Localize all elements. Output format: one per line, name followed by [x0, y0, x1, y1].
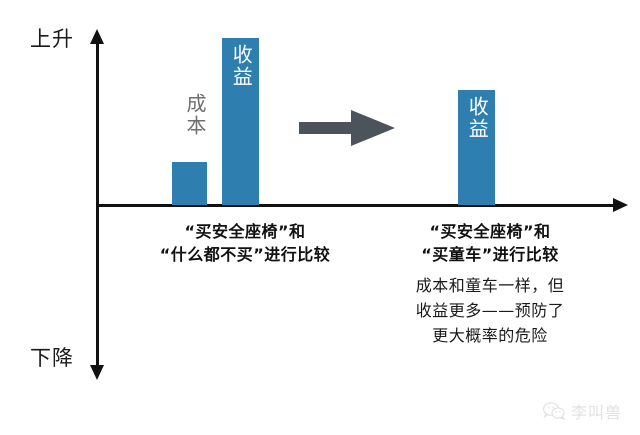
- caption-right-sub-line-1: 成本和童车一样，但: [385, 274, 595, 299]
- caption-right-sub-line-2: 收益更多——预防了: [385, 299, 595, 324]
- caption-right-sub-line-3: 更大概率的危险: [385, 324, 595, 349]
- bar-benefit-left-label: 收益: [229, 44, 253, 88]
- bar-cost-label: 成本: [173, 93, 206, 137]
- axis-label-down: 下降: [30, 348, 74, 369]
- caption-right-group: “买安全座椅”和 “买童车”进行比较 成本和童车一样，但 收益更多——预防了 更…: [385, 220, 595, 349]
- watermark: 李叫兽: [543, 399, 622, 423]
- bar-cost: [172, 162, 207, 205]
- bar-benefit-left: 收益: [222, 38, 259, 205]
- chart-canvas: 上升 下降 成本 收益 收益 “买安全座椅”和 “什么都不买”进行比较 “买安全…: [0, 0, 640, 435]
- axis-label-up: 上升: [30, 29, 74, 50]
- caption-right-line-1: “买安全座椅”和: [385, 220, 595, 243]
- caption-left-line-1: “买安全座椅”和: [95, 220, 395, 243]
- wechat-icon: [543, 402, 565, 420]
- caption-left-group: “买安全座椅”和 “什么都不买”进行比较: [95, 220, 395, 266]
- bar-benefit-right-label: 收益: [465, 96, 489, 140]
- caption-right-line-2: “买童车”进行比较: [385, 243, 595, 266]
- arrow-right-icon: [613, 198, 628, 212]
- arrow-up-icon: [90, 29, 104, 44]
- transition-arrow-icon: [299, 108, 395, 148]
- y-axis-line: [96, 42, 99, 206]
- watermark-text: 李叫兽: [571, 399, 622, 423]
- arrow-down-icon: [90, 365, 104, 380]
- caption-left-line-2: “什么都不买”进行比较: [95, 243, 395, 266]
- bar-benefit-right: 收益: [458, 90, 495, 205]
